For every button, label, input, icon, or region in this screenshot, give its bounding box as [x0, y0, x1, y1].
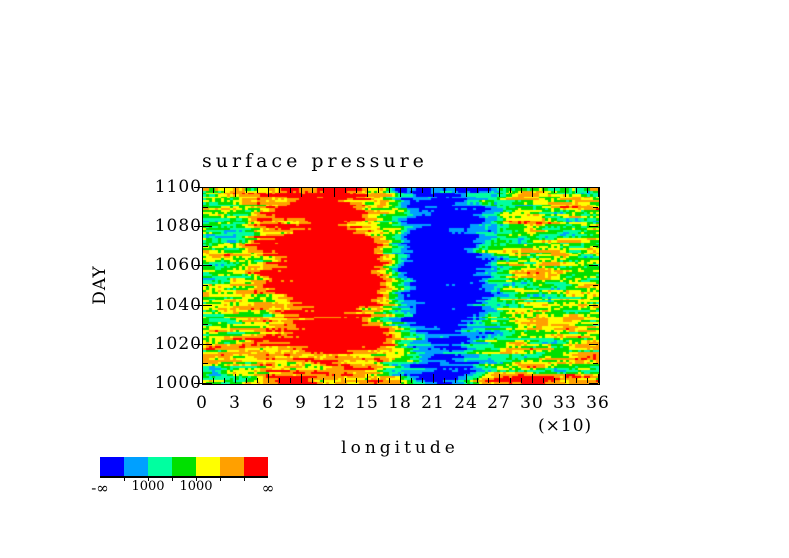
y-tick-label: 1000: [90, 373, 202, 393]
x-tick-label: 33: [553, 393, 577, 413]
colorbar-tick: [172, 476, 173, 481]
x-axis-title: longitude: [341, 438, 459, 458]
x-tick-label: 27: [487, 393, 511, 413]
colorbar-tick: [220, 476, 221, 481]
colorbar-swatch: [148, 457, 172, 476]
x-tick-label: 30: [520, 393, 544, 413]
heatmap-plot-area: [202, 187, 600, 385]
colorbar-swatch: [124, 457, 148, 476]
axis-tick: [194, 226, 202, 227]
colorbar-swatch: [172, 457, 196, 476]
x-tick-label: 36: [586, 393, 610, 413]
axis-tick: [194, 344, 202, 345]
colorbar-label: -∞: [91, 479, 109, 497]
axis-tick: [194, 383, 202, 384]
figure-root: surface pressure 10001020104010601080110…: [0, 0, 789, 558]
x-tick-label: 6: [262, 393, 274, 413]
heatmap-canvas: [203, 188, 599, 384]
colorbar-swatch: [196, 457, 220, 476]
plot-title: surface pressure: [202, 150, 598, 172]
colorbar: [100, 457, 268, 478]
colorbar-label: ∞: [262, 479, 275, 497]
y-tick-label: 1080: [90, 216, 202, 236]
y-axis-title: DAY: [90, 265, 110, 304]
y-tick-label: 1100: [90, 177, 202, 197]
x-tick-label: 18: [388, 393, 412, 413]
axis-tick: [194, 265, 202, 266]
x-tick-label: 21: [421, 393, 445, 413]
colorbar-tick: [244, 476, 245, 481]
x-axis-multiplier-label: (×10): [538, 416, 592, 436]
colorbar-label: 1000: [179, 479, 212, 494]
colorbar-swatch: [220, 457, 244, 476]
colorbar-swatch: [100, 457, 124, 476]
x-tick-label: 15: [355, 393, 379, 413]
x-tick-label: 0: [196, 393, 208, 413]
colorbar-label: 1000: [131, 479, 164, 494]
x-tick-label: 9: [295, 393, 307, 413]
y-tick-label: 1020: [90, 334, 202, 354]
colorbar-swatch: [244, 457, 268, 476]
x-tick-label: 12: [322, 393, 346, 413]
colorbar-tick: [124, 476, 125, 481]
x-tick-label: 3: [229, 393, 241, 413]
axis-tick: [194, 187, 202, 188]
x-tick-label: 24: [454, 393, 478, 413]
axis-tick: [194, 305, 202, 306]
